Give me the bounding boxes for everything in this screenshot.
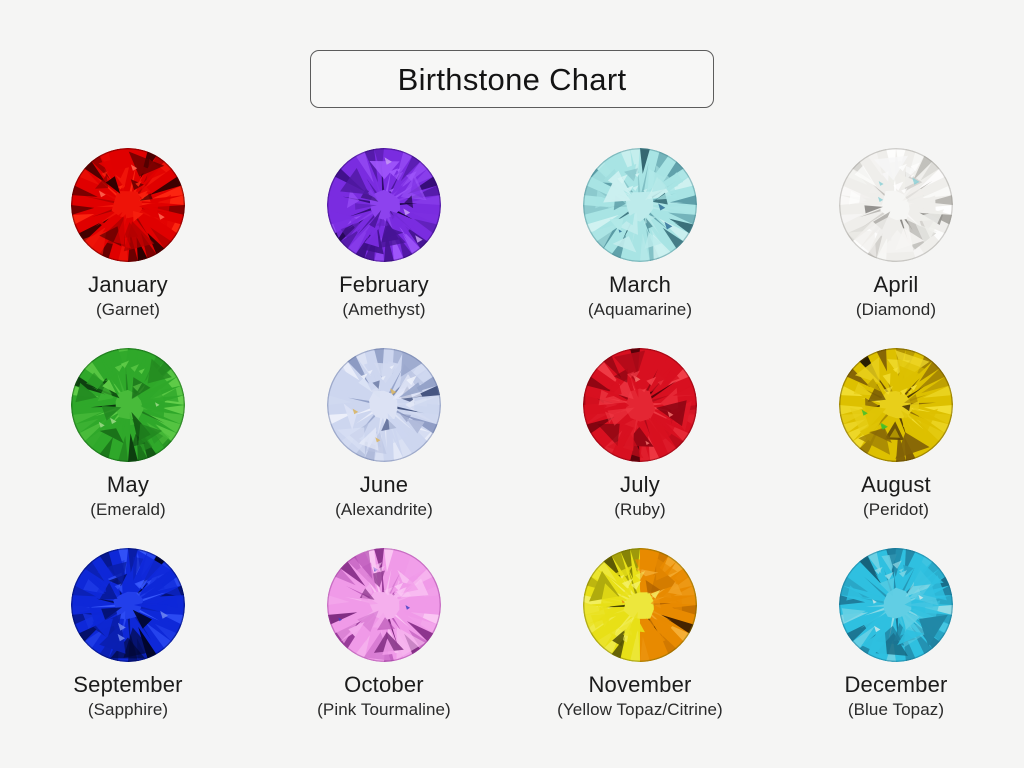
birthstone-cell-march[interactable]: March(Aquamarine) bbox=[512, 140, 768, 340]
gem-round-brilliant-icon bbox=[583, 148, 697, 262]
gem-image-wrap bbox=[327, 348, 441, 462]
gem-month-label: July bbox=[620, 472, 660, 497]
birthstone-cell-september[interactable]: September(Sapphire) bbox=[0, 540, 256, 740]
gem-round-brilliant-icon bbox=[839, 148, 953, 262]
birthstone-cell-june[interactable]: June(Alexandrite) bbox=[256, 340, 512, 540]
page-title: Birthstone Chart bbox=[398, 64, 627, 95]
gem-image-wrap bbox=[327, 148, 441, 262]
birthstone-cell-july[interactable]: July(Ruby) bbox=[512, 340, 768, 540]
gem-image-wrap bbox=[71, 548, 185, 662]
page-title-box: Birthstone Chart bbox=[310, 50, 714, 108]
gem-round-brilliant-icon bbox=[839, 548, 953, 662]
gem-image-wrap bbox=[71, 348, 185, 462]
gem-stone-label: (Blue Topaz) bbox=[848, 700, 944, 720]
gem-month-label: June bbox=[360, 472, 409, 497]
gem-image-wrap bbox=[71, 148, 185, 262]
gem-round-brilliant-icon bbox=[839, 348, 953, 462]
gem-month-label: February bbox=[339, 272, 429, 297]
gem-round-brilliant-icon bbox=[71, 548, 185, 662]
gem-image-wrap bbox=[839, 548, 953, 662]
gem-round-brilliant-icon bbox=[327, 348, 441, 462]
birthstone-cell-november[interactable]: November(Yellow Topaz/Citrine) bbox=[512, 540, 768, 740]
gem-stone-label: (Aquamarine) bbox=[588, 300, 692, 320]
gem-stone-label: (Diamond) bbox=[856, 300, 936, 320]
gem-month-label: September bbox=[73, 672, 182, 697]
gem-image-wrap bbox=[327, 548, 441, 662]
birthstone-cell-december[interactable]: December(Blue Topaz) bbox=[768, 540, 1024, 740]
gem-image-wrap bbox=[839, 148, 953, 262]
gem-month-label: October bbox=[344, 672, 424, 697]
gem-stone-label: (Sapphire) bbox=[88, 700, 168, 720]
gem-month-label: March bbox=[609, 272, 671, 297]
gem-stone-label: (Alexandrite) bbox=[335, 500, 433, 520]
gem-month-label: August bbox=[861, 472, 931, 497]
gem-stone-label: (Peridot) bbox=[863, 500, 929, 520]
gem-month-label: November bbox=[588, 672, 691, 697]
birthstone-cell-october[interactable]: October(Pink Tourmaline) bbox=[256, 540, 512, 740]
gem-month-label: April bbox=[873, 272, 918, 297]
gem-image-wrap bbox=[839, 348, 953, 462]
gem-stone-label: (Amethyst) bbox=[342, 300, 425, 320]
gem-round-brilliant-icon bbox=[327, 148, 441, 262]
birthstone-cell-january[interactable]: January(Garnet) bbox=[0, 140, 256, 340]
gem-stone-label: (Ruby) bbox=[614, 500, 666, 520]
birthstone-grid: January(Garnet)February(Amethyst)March(A… bbox=[0, 140, 1024, 740]
gem-image-wrap bbox=[583, 148, 697, 262]
gem-round-brilliant-icon bbox=[583, 348, 697, 462]
gem-stone-label: (Emerald) bbox=[90, 500, 166, 520]
gem-round-brilliant-icon bbox=[71, 148, 185, 262]
birthstone-cell-february[interactable]: February(Amethyst) bbox=[256, 140, 512, 340]
gem-month-label: December bbox=[844, 672, 947, 697]
gem-round-brilliant-icon bbox=[327, 548, 441, 662]
gem-month-label: January bbox=[88, 272, 168, 297]
gem-stone-label: (Yellow Topaz/Citrine) bbox=[557, 700, 723, 720]
gem-image-wrap bbox=[583, 348, 697, 462]
gem-month-label: May bbox=[107, 472, 149, 497]
gem-image-wrap bbox=[583, 548, 697, 662]
gem-round-brilliant-icon bbox=[71, 348, 185, 462]
gem-stone-label: (Garnet) bbox=[96, 300, 160, 320]
gem-round-brilliant-split-icon bbox=[583, 548, 697, 662]
birthstone-cell-august[interactable]: August(Peridot) bbox=[768, 340, 1024, 540]
gem-stone-label: (Pink Tourmaline) bbox=[317, 700, 451, 720]
birthstone-cell-april[interactable]: April(Diamond) bbox=[768, 140, 1024, 340]
birthstone-cell-may[interactable]: May(Emerald) bbox=[0, 340, 256, 540]
